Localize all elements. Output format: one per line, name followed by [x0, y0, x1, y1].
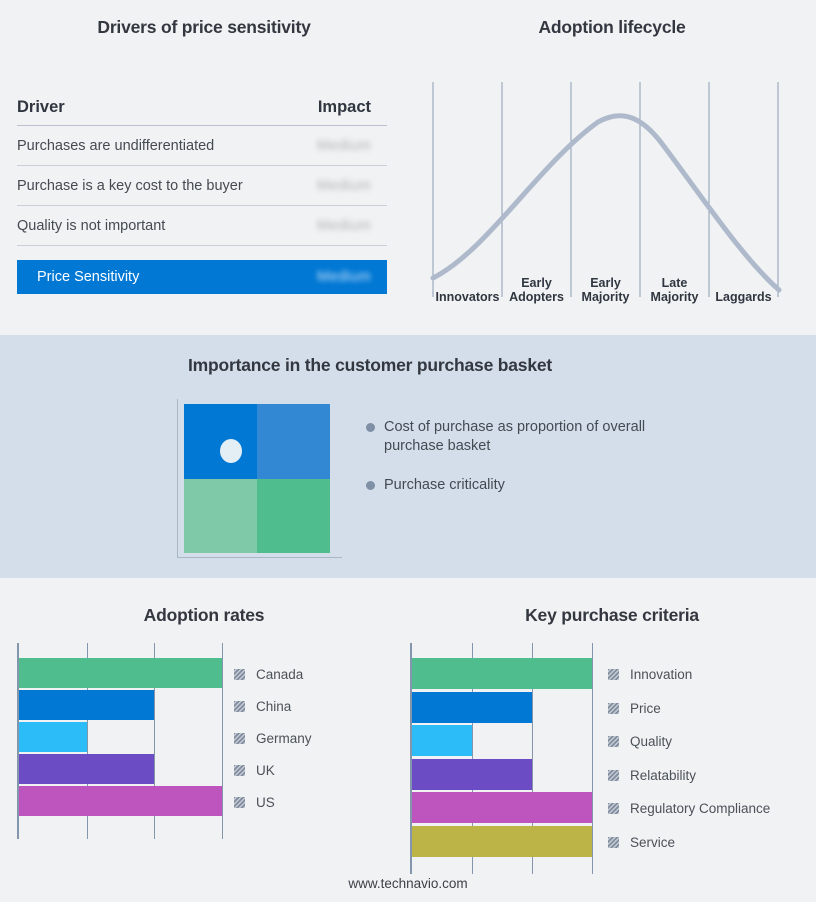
legend-item-label: Purchase criticality [384, 476, 505, 495]
legend-item: Service [608, 826, 770, 860]
quadrant-y-axis [177, 399, 178, 557]
bar-uk [19, 754, 154, 784]
lifecycle-stage-label-early-adopters: Early Adopters [502, 277, 571, 304]
legend-swatch-icon [234, 733, 245, 744]
legend-item-label: US [256, 795, 275, 810]
legend-item-label: Cost of purchase as proportion of overal… [384, 418, 666, 456]
legend-item: Relatability [608, 759, 770, 793]
importance-legend: Cost of purchase as proportion of overal… [366, 418, 666, 515]
legend-item: Cost of purchase as proportion of overal… [366, 418, 666, 456]
legend-item: Innovation [608, 658, 770, 692]
table-row: Purchase is a key cost to the buyer Medi… [17, 166, 387, 206]
column-header-impact: Impact [318, 98, 387, 117]
importance-panel-title: Importance in the customer purchase bask… [0, 355, 740, 376]
quadrant-cell-top-left [184, 404, 257, 479]
bar-us [19, 786, 222, 816]
summary-label: Price Sensitivity [37, 269, 139, 285]
bar-innovation [412, 658, 592, 689]
legend-swatch-icon [234, 669, 245, 680]
driver-label: Purchases are undifferentiated [17, 138, 214, 154]
adoption-rates-title: Adoption rates [0, 605, 408, 626]
bar-quality [412, 725, 472, 756]
adoption-rates-chart [17, 643, 397, 843]
footer-url: www.technavio.com [0, 876, 816, 891]
quadrant-cells [184, 404, 330, 553]
lifecycle-stage-label-innovators: Innovators [433, 291, 502, 305]
table-header-row: Driver Impact [17, 90, 387, 126]
quadrant-cell-top-right [257, 404, 330, 479]
legend-swatch-icon [608, 703, 619, 714]
legend-swatch-icon [234, 765, 245, 776]
column-header-driver: Driver [17, 98, 65, 117]
impact-value-blurred: Medium [317, 138, 387, 154]
legend-item-label: Germany [256, 731, 312, 746]
legend-item-label: Quality [630, 734, 672, 749]
quadrant-x-axis [177, 557, 342, 558]
quadrant-cell-bottom-left [184, 479, 257, 554]
legend-item: Purchase criticality [366, 476, 666, 495]
importance-quadrant-chart [177, 399, 342, 564]
legend-item-label: Innovation [630, 667, 692, 682]
legend-item: Canada [234, 658, 312, 690]
quadrant-marker-dot [220, 439, 242, 463]
chart-gridline [222, 643, 223, 839]
bar-china [19, 690, 154, 720]
legend-swatch-icon [608, 736, 619, 747]
impact-value-blurred: Medium [317, 178, 387, 194]
legend-item-label: Regulatory Compliance [630, 801, 770, 816]
legend-item-label: Price [630, 701, 661, 716]
legend-item: China [234, 690, 312, 722]
key-purchase-criteria-title: Key purchase criteria [408, 605, 816, 626]
bar-regulatory-compliance [412, 792, 592, 823]
legend-item-label: Service [630, 835, 675, 850]
legend-item-label: China [256, 699, 291, 714]
key-purchase-criteria-legend: InnovationPriceQualityRelatabilityRegula… [608, 658, 770, 859]
legend-item: UK [234, 754, 312, 786]
lifecycle-panel: Adoption lifecycle Innovators Early Adop… [408, 0, 816, 335]
quadrant-cell-bottom-right [257, 479, 330, 554]
legend-swatch-icon [608, 669, 619, 680]
drivers-table: Driver Impact Purchases are undifferenti… [17, 90, 387, 294]
lifecycle-stage-label-early-majority: Early Majority [571, 277, 640, 304]
lifecycle-gridlines [433, 82, 778, 297]
legend-swatch-icon [608, 803, 619, 814]
legend-item-label: Canada [256, 667, 303, 682]
lifecycle-stage-label-late-majority: Late Majority [640, 277, 709, 304]
legend-item-label: Relatability [630, 768, 696, 783]
legend-item: Price [608, 692, 770, 726]
legend-swatch-icon [608, 837, 619, 848]
table-row: Quality is not important Medium [17, 206, 387, 246]
legend-swatch-icon [234, 797, 245, 808]
bar-relatability [412, 759, 532, 790]
chart-gridline [592, 643, 593, 874]
table-row: Purchases are undifferentiated Medium [17, 126, 387, 166]
legend-swatch-icon [608, 770, 619, 781]
drivers-panel-title: Drivers of price sensitivity [0, 17, 408, 38]
legend-item-label: UK [256, 763, 275, 778]
bar-germany [19, 722, 87, 752]
legend-item: Quality [608, 725, 770, 759]
infographic-page: Drivers of price sensitivity Driver Impa… [0, 0, 816, 902]
legend-swatch-icon [234, 701, 245, 712]
driver-label: Quality is not important [17, 218, 165, 234]
bullet-icon [366, 423, 375, 432]
legend-item: Regulatory Compliance [608, 792, 770, 826]
price-sensitivity-summary-row: Price Sensitivity Medium [17, 260, 387, 294]
legend-item: US [234, 786, 312, 818]
impact-value-blurred: Medium [317, 218, 387, 234]
bar-service [412, 826, 592, 857]
legend-item: Germany [234, 722, 312, 754]
bullet-icon [366, 481, 375, 490]
bar-price [412, 692, 532, 723]
lifecycle-stage-label-laggards: Laggards [709, 291, 778, 305]
lifecycle-bell-curve [433, 116, 779, 290]
summary-impact-blurred: Medium [317, 269, 387, 285]
driver-label: Purchase is a key cost to the buyer [17, 178, 243, 194]
adoption-rates-legend: CanadaChinaGermanyUKUS [234, 658, 312, 818]
bar-canada [19, 658, 222, 688]
